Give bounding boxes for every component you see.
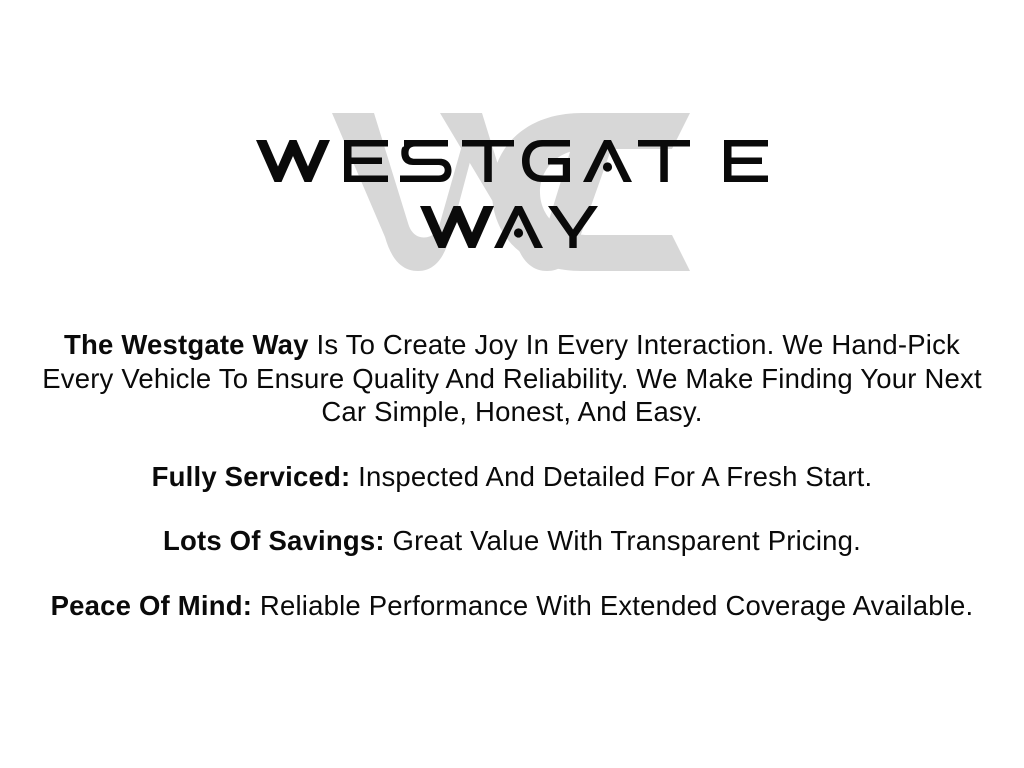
paragraph-lead: Lots Of Savings: [163,525,385,556]
promo-page: The Westgate Way Is To Create Joy In Eve… [0,0,1024,768]
westgate-way-wordmark [0,100,1024,252]
paragraph-lead: Fully Serviced: [152,461,351,492]
paragraph-lead: Peace Of Mind: [51,590,252,621]
paragraph-westgate-way: The Westgate Way Is To Create Joy In Eve… [0,328,1024,429]
paragraph-fully-serviced: Fully Serviced: Inspected And Detailed F… [0,460,1024,494]
body-copy: The Westgate Way Is To Create Joy In Eve… [0,328,1024,622]
logo-lockup [0,100,1024,285]
paragraph-lots-of-savings: Lots Of Savings: Great Value With Transp… [0,524,1024,558]
paragraph-peace-of-mind: Peace Of Mind: Reliable Performance With… [0,589,1024,623]
paragraph-lead: The Westgate Way [64,329,309,360]
paragraph-rest: Reliable Performance With Extended Cover… [252,590,973,621]
paragraph-rest: Great Value With Transparent Pricing. [385,525,861,556]
paragraph-rest: Inspected And Detailed For A Fresh Start… [350,461,872,492]
